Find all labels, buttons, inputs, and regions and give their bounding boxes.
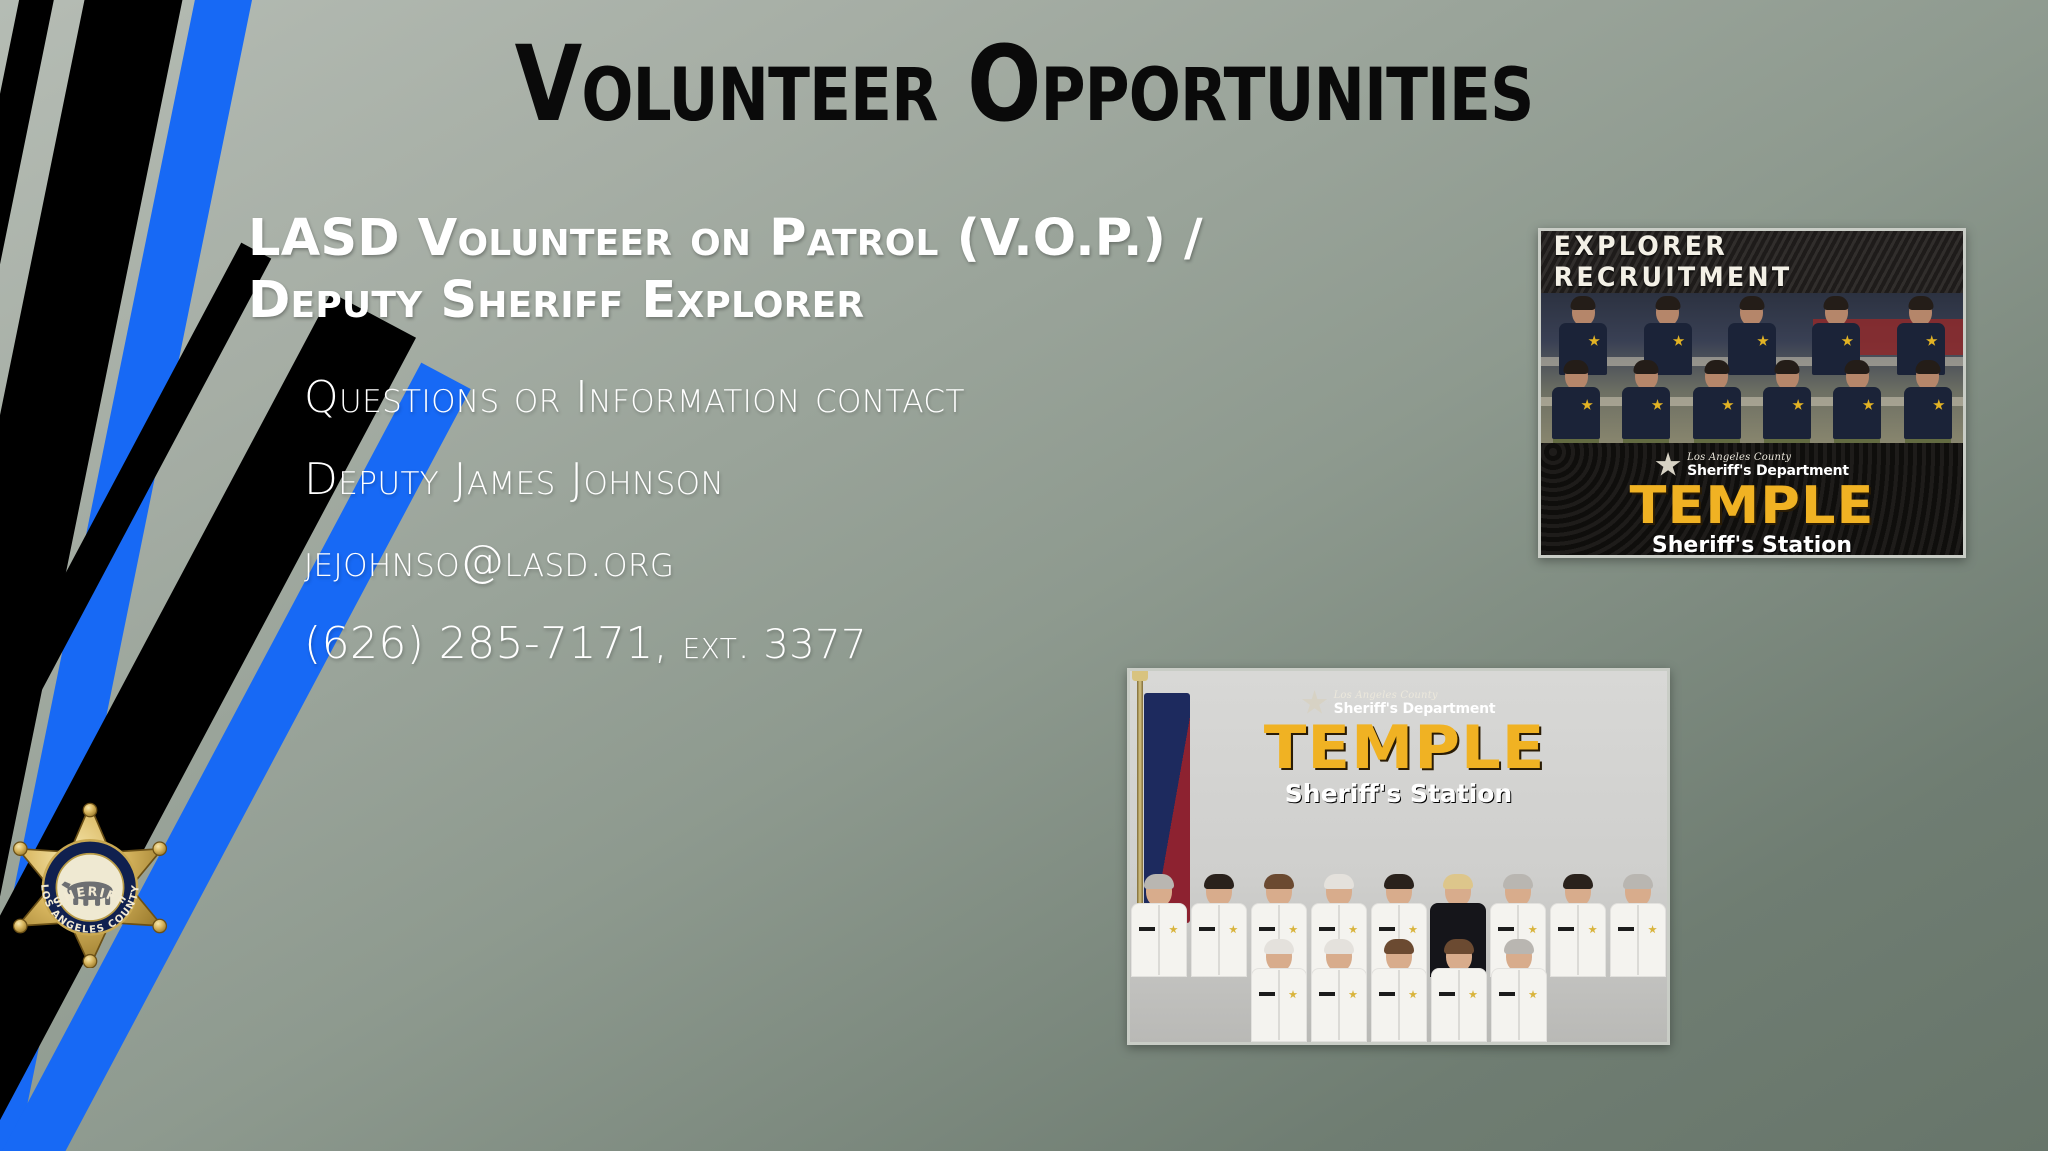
subtitle-line-2: Deputy Sheriff Explorer — [248, 270, 1328, 332]
explorer-person — [1761, 363, 1813, 453]
explorer-front-row — [1541, 363, 1963, 453]
station-name-vop: TEMPLE — [1263, 718, 1533, 778]
explorer-banner-text: EXPLORER RECRUITMENT — [1554, 231, 1951, 293]
subtitle-line-1: LASD Volunteer on Patrol (V.O.P.) / — [248, 208, 1328, 270]
contact-intro: Questions or Information contact — [304, 376, 1328, 420]
vop-people-rows — [1130, 876, 1667, 1042]
vop-person — [1250, 941, 1308, 1042]
vop-person — [1430, 941, 1488, 1042]
explorer-person — [1550, 363, 1602, 453]
station-name-explorer: TEMPLE — [1538, 480, 1966, 532]
lasd-star-icon — [1655, 452, 1681, 478]
vop-group-photo: Los Angeles County Sheriff's Department … — [1127, 668, 1670, 1045]
lasd-logo: Los Angeles County Sheriff's Department — [1541, 443, 1963, 478]
explorer-group-scene — [1541, 293, 1963, 453]
explorer-recruitment-photo: EXPLORER RECRUITMENT — [1538, 228, 1966, 558]
station-sub-explorer: Sheriff's Station — [1541, 535, 1963, 557]
lasd-county-label: Los Angeles County — [1687, 453, 1849, 463]
lasd-county-label: Los Angeles County — [1334, 691, 1496, 701]
explorer-banner: EXPLORER RECRUITMENT — [1541, 231, 1963, 293]
vop-person — [1549, 876, 1607, 977]
lasd-logo: Los Angeles County Sheriff's Department — [1269, 681, 1529, 716]
contact-name: Deputy James Johnson — [304, 458, 1328, 502]
contact-email[interactable]: jejohnso@lasd.org — [304, 540, 1328, 584]
sheriff-star-badge-icon: SHERIFF LOS ANGELES COUNTY — [6, 800, 174, 968]
page-title: Volunteer Opportunities — [164, 28, 1884, 140]
lasd-logo-text: Los Angeles County Sheriff's Department — [1334, 691, 1496, 716]
vop-person — [1370, 941, 1428, 1042]
explorer-person — [1831, 363, 1883, 453]
flag-finial — [1132, 668, 1148, 681]
vop-person — [1490, 941, 1548, 1042]
explorer-person — [1620, 363, 1672, 453]
slide-canvas: SHERIFF LOS ANGELES COUNTY Volunteer Opp… — [0, 0, 2048, 1151]
vop-person — [1190, 876, 1248, 977]
contact-phone-line: (626) 285-7171, ext. 3377 — [304, 622, 1328, 666]
vop-logo-overlay: Los Angeles County Sheriff's Department … — [1269, 681, 1529, 806]
explorer-person — [1902, 363, 1954, 453]
contact-list: Questions or Information contact Deputy … — [304, 376, 1328, 666]
explorer-footer-brand: Los Angeles County Sheriff's Department … — [1541, 443, 1963, 555]
contact-extension: ext. 3377 — [683, 622, 867, 668]
lasd-logo-text: Los Angeles County Sheriff's Department — [1687, 453, 1849, 478]
contact-phone[interactable]: (626) 285-7171, — [304, 618, 668, 669]
explorer-person — [1691, 363, 1743, 453]
vop-person — [1130, 876, 1188, 977]
body-content: LASD Volunteer on Patrol (V.O.P.) / Depu… — [248, 208, 1328, 704]
station-sub-vop: Sheriff's Station — [1269, 781, 1529, 806]
vop-person — [1310, 941, 1368, 1042]
vop-person — [1609, 876, 1667, 977]
